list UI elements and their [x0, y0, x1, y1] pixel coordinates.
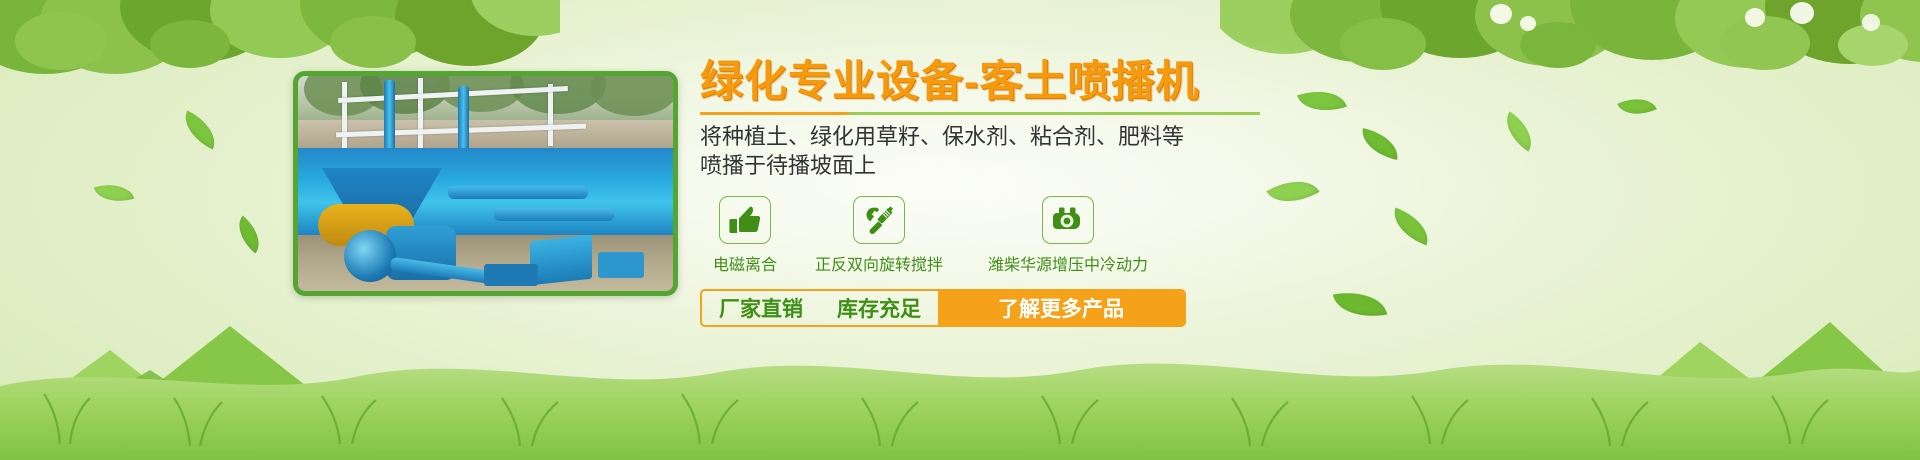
subtitle-line-2: 喷播于待播坡面上: [700, 151, 1300, 180]
feature-label: 正反双向旋转搅拌: [790, 251, 968, 275]
floating-leaf: [94, 177, 135, 208]
title-divider: [700, 112, 1260, 115]
feature-item-electromagnetic-clutch: 电磁离合: [700, 196, 790, 275]
thumbs-up-icon: [719, 196, 771, 244]
banner-subtitle: 将种植土、绿化用草籽、保水剂、粘合剂、肥料等 喷播于待播坡面上: [700, 122, 1300, 181]
badge-bar: 厂家直销 库存充足 了解更多产品: [700, 289, 1186, 327]
page-title: 绿化专业设备-客土喷播机: [700, 60, 1300, 105]
subtitle-line-1: 将种植土、绿化用草籽、保水剂、粘合剂、肥料等: [700, 122, 1300, 151]
feature-label: 潍柴华源增压中冷动力: [968, 251, 1168, 275]
floating-leaf: [1497, 111, 1541, 151]
feature-list: 电磁离合 正反双向旋转搅拌: [700, 196, 1300, 275]
badge-stock-available: 库存充足: [820, 291, 938, 325]
product-photo: [293, 71, 678, 296]
engine-gear-icon: [1042, 196, 1094, 244]
floating-leaf: [177, 110, 223, 149]
banner-content: 绿化专业设备-客土喷播机 将种植土、绿化用草籽、保水剂、粘合剂、肥料等 喷播于待…: [700, 60, 1300, 327]
floating-leaf: [1617, 90, 1657, 123]
promo-banner: 绿化专业设备-客土喷播机 将种植土、绿化用草籽、保水剂、粘合剂、肥料等 喷播于待…: [0, 0, 1920, 460]
floating-leaf: [1358, 128, 1402, 160]
learn-more-button[interactable]: 了解更多产品: [938, 291, 1184, 325]
badge-factory-direct: 厂家直销: [702, 291, 820, 325]
wrench-screwdriver-icon: [853, 196, 905, 244]
floating-leaf: [1297, 82, 1347, 120]
feature-item-bidirectional-mixing: 正反双向旋转搅拌: [790, 196, 968, 275]
foliage-top-right: [1220, 0, 1920, 86]
feature-label: 电磁离合: [700, 251, 790, 275]
feature-item-weichai-power: 潍柴华源增压中冷动力: [968, 196, 1168, 275]
grass-strip: [0, 340, 1920, 460]
